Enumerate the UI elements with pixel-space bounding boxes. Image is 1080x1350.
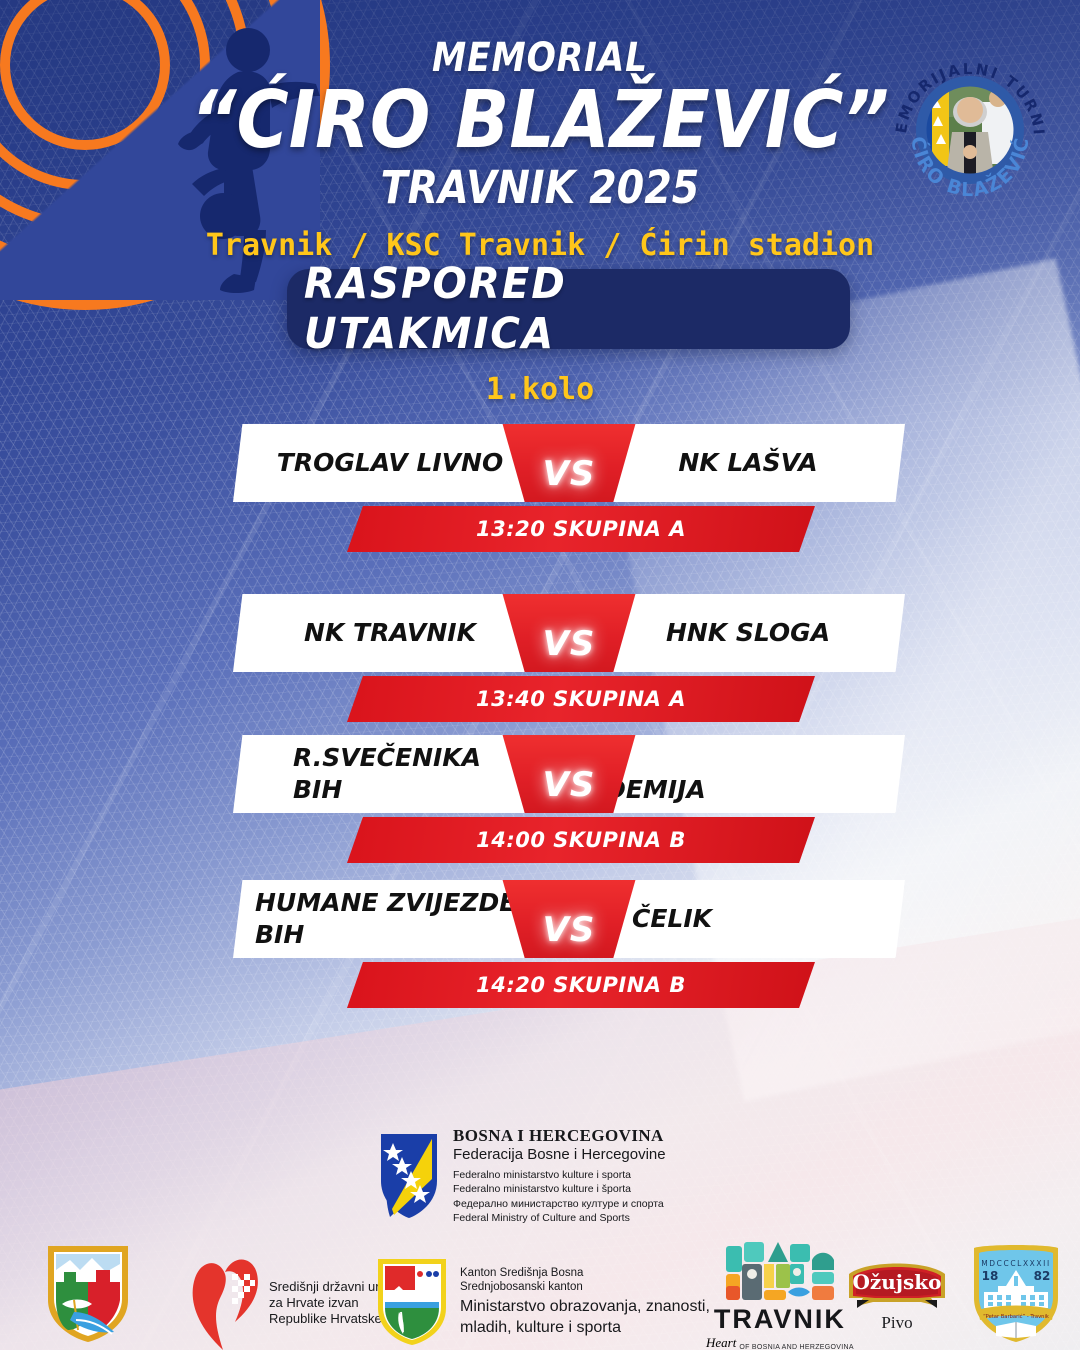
gymnasium-ribbon-text: “Petar Barbarić” - Travnik xyxy=(983,1313,1049,1320)
croatian-heart-icon xyxy=(185,1250,261,1350)
fed-small-line: Federalno ministarstvo kulture i sporta xyxy=(453,1168,666,1182)
match-info-text: 14:00 SKUPINA B xyxy=(476,828,686,852)
canton-ministry-text: Kanton Središnja Bosna Srednjobosanski k… xyxy=(460,1266,710,1338)
ozujsko-wordmark: Ožujsko xyxy=(852,1270,941,1294)
team-name-line: NK TRAVNIK xyxy=(304,617,476,650)
match-info-banner: 14:20 SKUPINA B xyxy=(347,962,815,1008)
poster-root: MEMORIAL “ĆIRO BLAŽEVIĆ” TRAVNIK 2025 Tr… xyxy=(0,0,1080,1350)
vs-label: VS xyxy=(543,910,596,950)
team-name-line: BIH xyxy=(255,919,304,952)
sponsor-gymnasium-crest: MDCCCLXXXII 18 82 “Petar Barbarić” - Tra… xyxy=(968,1242,1064,1346)
ozujsko-logo-icon: Ožujsko xyxy=(843,1258,951,1310)
header-memorial: MEMORIAL xyxy=(76,38,1005,78)
match-row: HUMANE ZVIJEZDE BIH NK ČELIK VS 14:20 SK… xyxy=(233,880,905,1035)
match-card: R.SVEČENIKA BIH ĆIRO AKADEMIJA VS xyxy=(233,735,905,813)
schedule-title-banner: RASPORED UTAKMICA xyxy=(287,269,850,349)
canton-small-line: Srednjobosanski kanton xyxy=(460,1280,710,1294)
match-row: NK TRAVNIK HNK SLOGA VS 13:40 SKUPINA A xyxy=(233,594,905,749)
travnik-city-icon xyxy=(724,1240,836,1302)
team-name-line: R.SVEČENIKA xyxy=(293,742,481,775)
vs-label: VS xyxy=(543,765,596,805)
municipality-crest-icon xyxy=(44,1242,132,1346)
round-label: 1.kolo xyxy=(0,372,1080,407)
match-row: R.SVEČENIKA BIH ĆIRO AKADEMIJA VS 14:00 … xyxy=(233,735,905,890)
sponsor-canton-ministry: Kanton Središnja Bosna Srednjobosanski k… xyxy=(375,1256,710,1348)
fed-small-lines: Federalno ministarstvo kulture i sporta … xyxy=(453,1168,666,1226)
team-name-line: HUMANE ZVIJEZDE xyxy=(255,887,516,920)
away-team: HNK SLOGA xyxy=(609,594,887,672)
fed-line1: BOSNA I HERCEGOVINA xyxy=(453,1126,666,1145)
team-name-line: HNK SLOGA xyxy=(666,617,830,650)
match-info-text: 13:20 SKUPINA A xyxy=(476,517,686,541)
home-team: HUMANE ZVIJEZDE BIH xyxy=(255,880,533,958)
match-info-text: 13:40 SKUPINA A xyxy=(476,687,686,711)
gymnasium-year-right: 82 xyxy=(1034,1269,1051,1283)
sponsor-ozujsko: Ožujsko Pivo xyxy=(843,1258,951,1333)
match-info-banner: 13:40 SKUPINA A xyxy=(347,676,815,722)
match-info-banner: 14:00 SKUPINA B xyxy=(347,817,815,863)
header-venue: Travnik / KSC Travnik / Ćirin stadion xyxy=(0,228,1080,263)
ozujsko-sub: Pivo xyxy=(881,1313,912,1333)
sponsor-travnik-tourism: TRAVNIK Heart OF BOSNIA AND HERZEGOVINA xyxy=(706,1240,854,1350)
sponsor-croatia-state-office: Središnji državni ured za Hrvate izvan R… xyxy=(185,1250,394,1350)
away-team: NK LAŠVA xyxy=(609,424,887,502)
fed-small-line: Federalno ministarstvo kulture i športa xyxy=(453,1182,666,1196)
bosnia-coat-of-arms-icon xyxy=(378,1131,440,1221)
sponsor-municipality-crest xyxy=(44,1242,132,1346)
home-team: TROGLAV LIVNO xyxy=(251,424,529,502)
canton-big-line: Ministarstvo obrazovanja, znanosti, xyxy=(460,1297,710,1317)
vs-label: VS xyxy=(543,624,596,664)
header-year: TRAVNIK 2025 xyxy=(65,165,1015,210)
team-name-line: NK LAŠVA xyxy=(678,447,817,480)
fed-small-line: Federal Ministry of Culture and Sports xyxy=(453,1211,666,1225)
tournament-badge-logo: MEMORIJALNI TURNIR ĆIRO BLAŽEVIĆ xyxy=(886,46,1054,214)
match-row: TROGLAV LIVNO NK LAŠVA VS 13:20 SKUPINA … xyxy=(233,424,905,579)
sponsor-federal-ministry: BOSNA I HERCEGOVINA Federacija Bosne i H… xyxy=(378,1126,666,1226)
fed-line2: Federacija Bosne i Hercegovine xyxy=(453,1147,666,1164)
sponsor-row: Središnji državni ured za Hrvate izvan R… xyxy=(0,1236,1080,1350)
canton-big-line: mladih, kulture i sporta xyxy=(460,1318,710,1338)
travnik-tagline: OF BOSNIA AND HERZEGOVINA xyxy=(739,1344,853,1350)
match-info-text: 14:20 SKUPINA B xyxy=(476,973,686,997)
gymnasium-crest-icon: MDCCCLXXXII 18 82 “Petar Barbarić” - Tra… xyxy=(968,1242,1064,1346)
canton-small-line: Kanton Središnja Bosna xyxy=(460,1266,710,1280)
vs-label: VS xyxy=(543,454,596,494)
travnik-heart: Heart xyxy=(706,1335,736,1350)
header-tournament-name: “ĆIRO BLAŽEVIĆ” xyxy=(54,80,1026,161)
match-info-banner: 13:20 SKUPINA A xyxy=(347,506,815,552)
team-name-line: TROGLAV LIVNO xyxy=(277,447,503,480)
team-name-line: BIH xyxy=(293,774,342,807)
fed-small-line: Федерално министарство културе и спорта xyxy=(453,1197,666,1211)
schedule-title-text: RASPORED UTAKMICA xyxy=(304,259,833,359)
match-card: TROGLAV LIVNO NK LAŠVA VS xyxy=(233,424,905,502)
travnik-name: TRAVNIK xyxy=(714,1304,846,1335)
match-card: NK TRAVNIK HNK SLOGA VS xyxy=(233,594,905,672)
match-card: HUMANE ZVIJEZDE BIH NK ČELIK VS xyxy=(233,880,905,958)
gymnasium-year-left: 18 xyxy=(982,1269,999,1283)
canton-crest-icon xyxy=(375,1256,449,1348)
home-team: NK TRAVNIK xyxy=(251,594,529,672)
gymnasium-roman-year: MDCCCLXXXII xyxy=(981,1259,1051,1268)
federal-ministry-text: BOSNA I HERCEGOVINA Federacija Bosne i H… xyxy=(453,1126,666,1226)
